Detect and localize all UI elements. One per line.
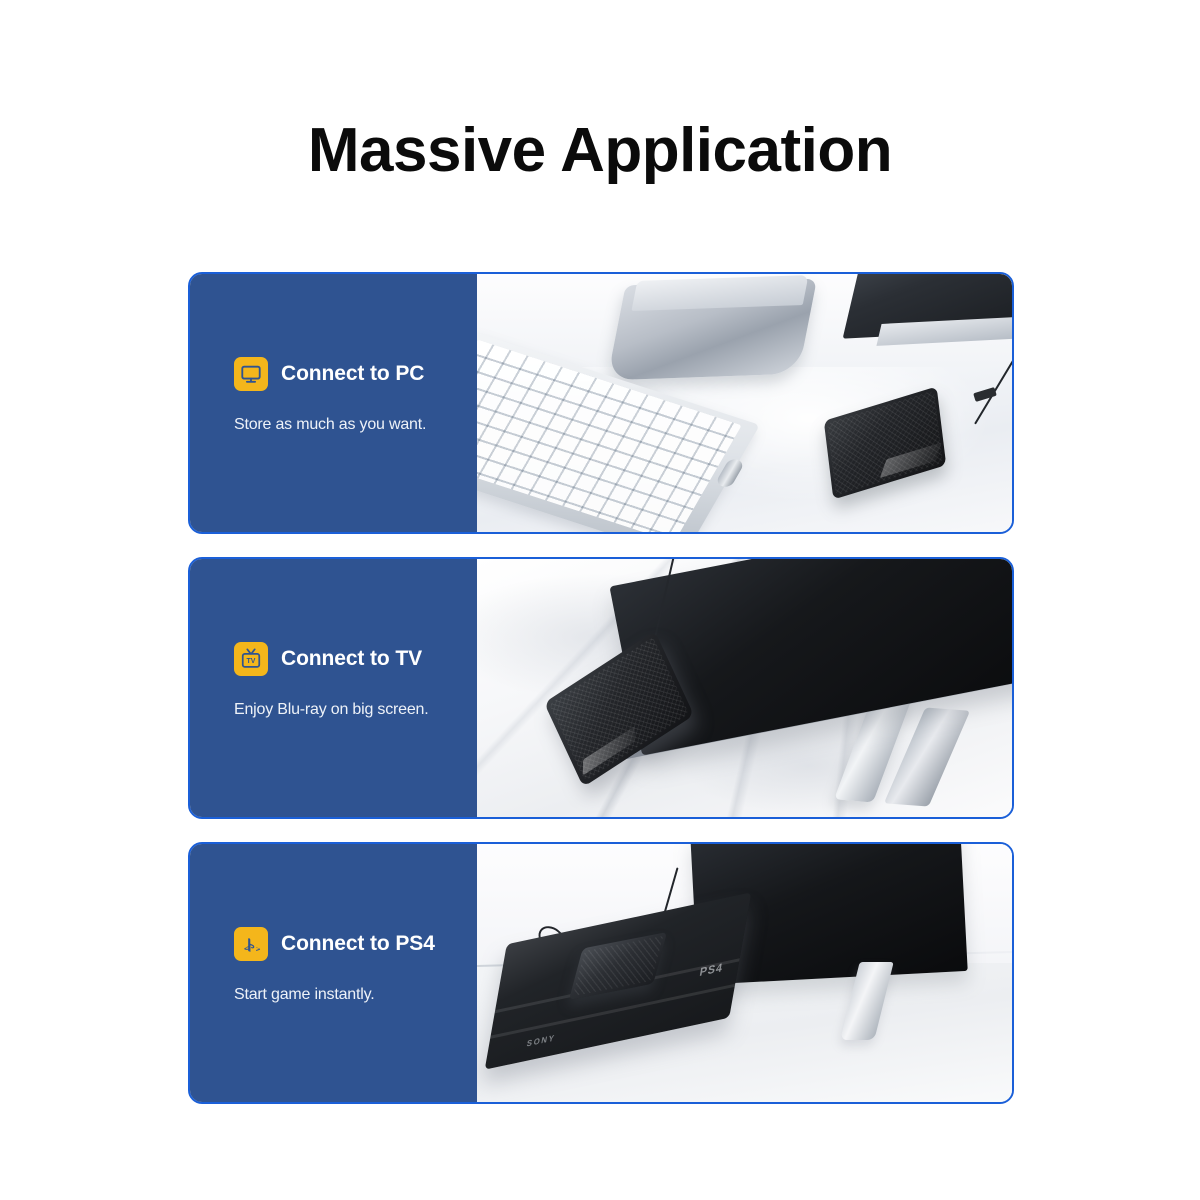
card-panel-pc: Connect to PC Store as much as you want. (190, 274, 477, 532)
card-header-tv: TV Connect to TV (234, 642, 422, 676)
card-subtitle-pc: Store as much as you want. (234, 414, 426, 436)
console-model-label: PS4 (699, 962, 725, 980)
card-panel-tv: TV Connect to TV Enjoy Blu-ray on big sc… (190, 559, 477, 817)
card-heading-tv: Connect to TV (281, 647, 422, 671)
svg-text:TV: TV (247, 658, 256, 665)
page-root: Massive Application Connect to PC Store … (0, 0, 1200, 1200)
application-card-connect-to-pc[interactable]: Connect to PC Store as much as you want. (188, 272, 1014, 534)
application-card-connect-to-ps4[interactable]: Connect to PS4 Start game instantly. PS4… (188, 842, 1014, 1104)
card-header-ps4: Connect to PS4 (234, 927, 435, 961)
portable-hdd (824, 386, 946, 499)
card-heading-pc: Connect to PC (281, 362, 424, 386)
card-header-pc: Connect to PC (234, 357, 424, 391)
playstation-icon (234, 927, 268, 961)
card-photo-tv (477, 559, 1012, 817)
card-photo-pc (477, 274, 1012, 532)
page-title: Massive Application (0, 113, 1200, 189)
console-brand-label: SONY (526, 1033, 556, 1049)
application-card-connect-to-tv[interactable]: TV Connect to TV Enjoy Blu-ray on big sc… (188, 557, 1014, 819)
card-heading-ps4: Connect to PS4 (281, 932, 435, 956)
hdd-texture (827, 390, 943, 495)
console-seam-bottom (490, 984, 735, 1039)
tv-icon: TV (234, 642, 268, 676)
application-card-list: Connect to PC Store as much as you want. (188, 272, 1014, 1104)
monitor-icon (234, 357, 268, 391)
usb-connector (973, 387, 997, 402)
card-panel-ps4: Connect to PS4 Start game instantly. (190, 844, 477, 1102)
imac-stand-neck (631, 275, 808, 311)
card-subtitle-ps4: Start game instantly. (234, 984, 374, 1006)
card-subtitle-tv: Enjoy Blu-ray on big screen. (234, 699, 429, 721)
card-photo-ps4: PS4 SONY (477, 844, 1012, 1102)
